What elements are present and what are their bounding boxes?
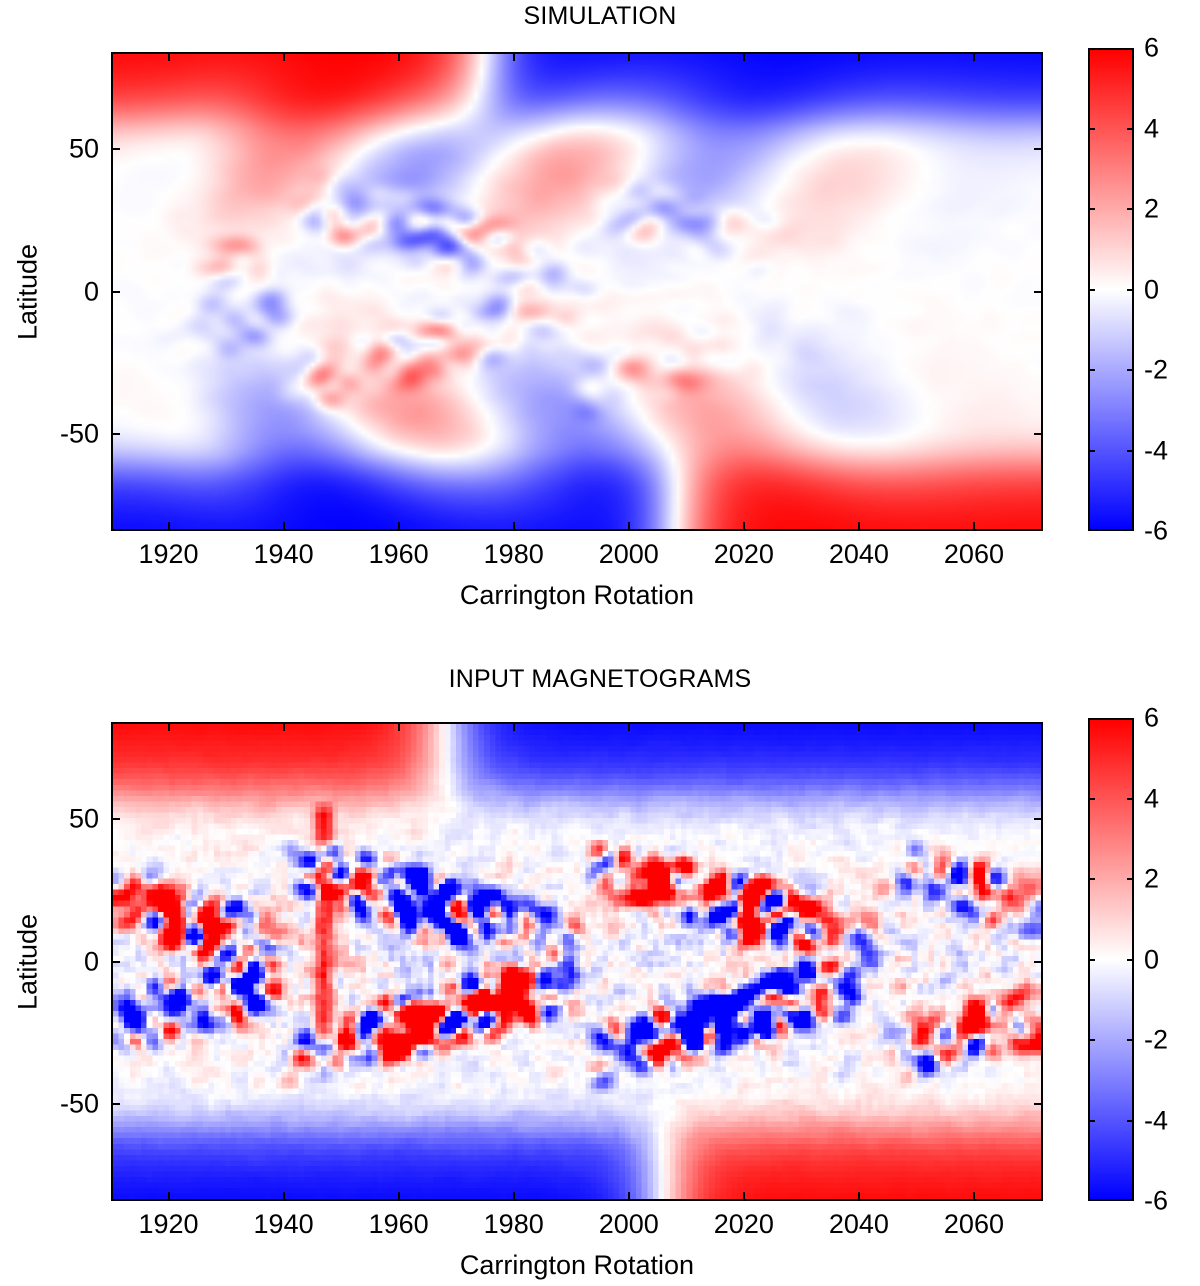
x-tick-bottom-1920 xyxy=(168,522,170,531)
y-axis-label-input-magnetograms: Latitude xyxy=(13,902,44,1022)
colorbar-tick-left-neg4 xyxy=(1088,1120,1095,1122)
x-tick-bottom-2000 xyxy=(628,1192,630,1201)
x-tick-label-2040: 2040 xyxy=(829,1209,889,1240)
x-tick-top-1980 xyxy=(513,52,515,61)
colorbar-tick-label-6: 6 xyxy=(1144,33,1159,64)
colorbar-tick-left-4 xyxy=(1088,798,1095,800)
colorbar-tick-left-2 xyxy=(1088,878,1095,880)
colorbar-tick-left-neg2 xyxy=(1088,369,1095,371)
y-tick-right--50 xyxy=(1034,1103,1043,1105)
panel-title-simulation: SIMULATION xyxy=(0,2,1200,31)
colorbar-tick-right-4 xyxy=(1127,798,1134,800)
x-tick-label-2020: 2020 xyxy=(714,1209,774,1240)
x-tick-bottom-1960 xyxy=(398,522,400,531)
x-tick-top-2020 xyxy=(743,52,745,61)
x-tick-label-1960: 1960 xyxy=(369,1209,429,1240)
colorbar-gradient-input-magnetograms xyxy=(1090,720,1132,1199)
colorbar-tick-right-0 xyxy=(1127,289,1134,291)
colorbar-gradient-simulation xyxy=(1090,50,1132,529)
x-tick-top-1920 xyxy=(168,722,170,731)
x-tick-top-2060 xyxy=(973,52,975,61)
x-tick-bottom-2000 xyxy=(628,522,630,531)
colorbar-tick-label-2: 2 xyxy=(1144,864,1159,895)
x-tick-bottom-1940 xyxy=(283,522,285,531)
y-tick-label-50: 50 xyxy=(3,133,99,164)
x-tick-top-1940 xyxy=(283,722,285,731)
colorbar-tick-label-4: 4 xyxy=(1144,783,1159,814)
heatmap-canvas-simulation xyxy=(113,54,1041,529)
x-tick-label-1940: 1940 xyxy=(254,539,314,570)
x-tick-top-1940 xyxy=(283,52,285,61)
colorbar-tick-label-6: 6 xyxy=(1144,703,1159,734)
x-tick-bottom-2060 xyxy=(973,522,975,531)
colorbar-tick-left-neg2 xyxy=(1088,1039,1095,1041)
y-axis-label-simulation: Latitude xyxy=(13,232,44,352)
colorbar-tick-label-0: 0 xyxy=(1144,944,1159,975)
x-tick-label-1960: 1960 xyxy=(369,539,429,570)
y-tick-left--50 xyxy=(111,433,120,435)
x-tick-bottom-2060 xyxy=(973,1192,975,1201)
x-tick-top-2000 xyxy=(628,52,630,61)
colorbar-tick-left-2 xyxy=(1088,208,1095,210)
colorbar-tick-label-neg6: -6 xyxy=(1144,516,1168,547)
x-tick-label-2000: 2000 xyxy=(599,1209,659,1240)
x-tick-label-2020: 2020 xyxy=(714,539,774,570)
x-tick-bottom-1920 xyxy=(168,1192,170,1201)
x-tick-top-2060 xyxy=(973,722,975,731)
colorbar-tick-label-0: 0 xyxy=(1144,274,1159,305)
y-tick-left-0 xyxy=(111,961,120,963)
x-tick-label-1940: 1940 xyxy=(254,1209,314,1240)
x-tick-bottom-1980 xyxy=(513,522,515,531)
colorbar-tick-right-neg2 xyxy=(1127,369,1134,371)
y-tick-right-0 xyxy=(1034,291,1043,293)
x-axis-label-input-magnetograms: Carrington Rotation xyxy=(111,1250,1043,1281)
colorbar-tick-left-0 xyxy=(1088,289,1095,291)
heatmap-canvas-input-magnetograms xyxy=(113,724,1041,1199)
colorbar-tick-right-neg4 xyxy=(1127,450,1134,452)
x-tick-label-2060: 2060 xyxy=(944,539,1004,570)
x-tick-bottom-2020 xyxy=(743,1192,745,1201)
x-tick-top-1980 xyxy=(513,722,515,731)
x-tick-top-2040 xyxy=(858,52,860,61)
x-tick-top-2020 xyxy=(743,722,745,731)
x-tick-top-1920 xyxy=(168,52,170,61)
x-tick-label-1980: 1980 xyxy=(484,539,544,570)
colorbar-tick-label-2: 2 xyxy=(1144,194,1159,225)
x-tick-top-2000 xyxy=(628,722,630,731)
colorbar-tick-left-0 xyxy=(1088,959,1095,961)
x-tick-label-1980: 1980 xyxy=(484,1209,544,1240)
x-axis-label-simulation: Carrington Rotation xyxy=(111,580,1043,611)
x-tick-top-2040 xyxy=(858,722,860,731)
y-tick-left-50 xyxy=(111,148,120,150)
plot-area-input-magnetograms xyxy=(111,722,1043,1201)
x-tick-top-1960 xyxy=(398,722,400,731)
colorbar-tick-label-4: 4 xyxy=(1144,113,1159,144)
x-tick-label-2060: 2060 xyxy=(944,1209,1004,1240)
colorbar-tick-label-neg2: -2 xyxy=(1144,1025,1168,1056)
x-tick-bottom-1980 xyxy=(513,1192,515,1201)
x-tick-bottom-1960 xyxy=(398,1192,400,1201)
x-tick-label-2040: 2040 xyxy=(829,539,889,570)
x-tick-label-1920: 1920 xyxy=(138,539,198,570)
colorbar-tick-right-2 xyxy=(1127,878,1134,880)
colorbar-tick-left-4 xyxy=(1088,128,1095,130)
x-tick-bottom-2040 xyxy=(858,522,860,531)
colorbar-tick-label-neg4: -4 xyxy=(1144,1105,1168,1136)
x-tick-label-1920: 1920 xyxy=(138,1209,198,1240)
colorbar-tick-left-neg4 xyxy=(1088,450,1095,452)
y-tick-left-0 xyxy=(111,291,120,293)
plot-area-simulation xyxy=(111,52,1043,531)
x-tick-label-2000: 2000 xyxy=(599,539,659,570)
y-tick-right-50 xyxy=(1034,818,1043,820)
y-tick-label-50: 50 xyxy=(3,803,99,834)
x-tick-bottom-2020 xyxy=(743,522,745,531)
y-tick-right-0 xyxy=(1034,961,1043,963)
x-tick-top-1960 xyxy=(398,52,400,61)
colorbar-tick-label-neg2: -2 xyxy=(1144,355,1168,386)
colorbar-tick-label-neg6: -6 xyxy=(1144,1186,1168,1217)
colorbar-tick-right-neg4 xyxy=(1127,1120,1134,1122)
panel-title-input-magnetograms: INPUT MAGNETOGRAMS xyxy=(0,665,1200,694)
y-tick-left-50 xyxy=(111,818,120,820)
y-tick-label-neg50: -50 xyxy=(3,1089,99,1120)
colorbar-tick-right-neg2 xyxy=(1127,1039,1134,1041)
colorbar-tick-label-neg4: -4 xyxy=(1144,435,1168,466)
colorbar-tick-right-0 xyxy=(1127,959,1134,961)
x-tick-bottom-2040 xyxy=(858,1192,860,1201)
y-tick-right-50 xyxy=(1034,148,1043,150)
y-tick-right--50 xyxy=(1034,433,1043,435)
colorbar-tick-right-2 xyxy=(1127,208,1134,210)
y-tick-left--50 xyxy=(111,1103,120,1105)
y-tick-label-neg50: -50 xyxy=(3,419,99,450)
colorbar-tick-right-4 xyxy=(1127,128,1134,130)
x-tick-bottom-1940 xyxy=(283,1192,285,1201)
